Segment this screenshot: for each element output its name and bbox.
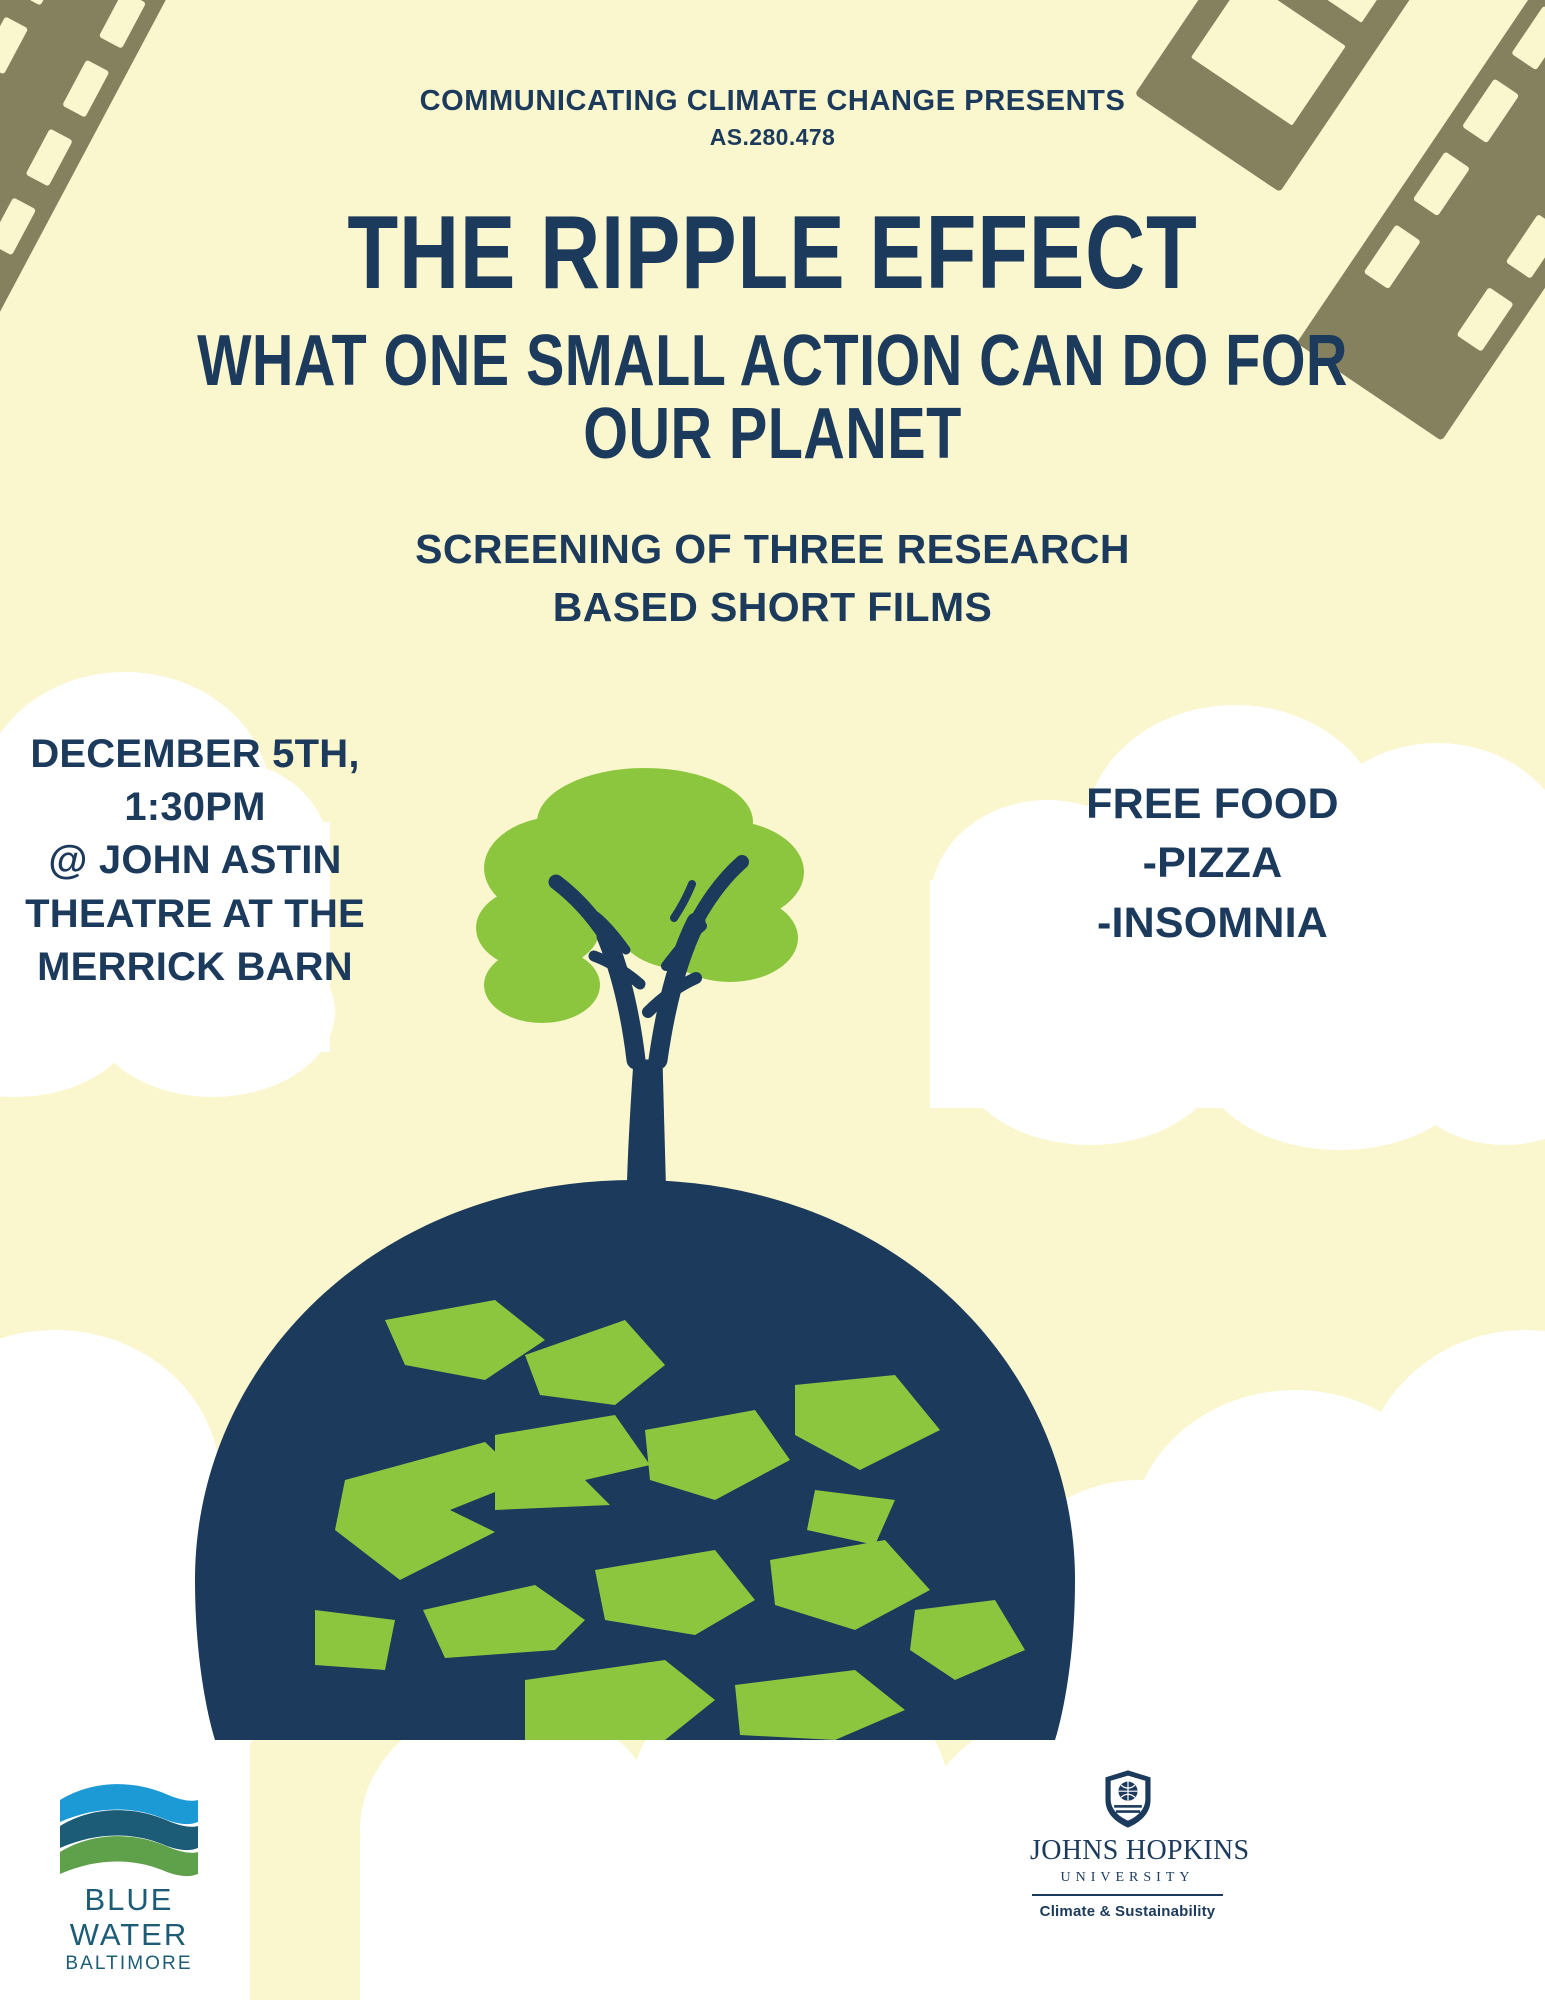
jhu-name: JOHNS HOPKINS (1030, 1835, 1225, 1867)
presents-line: COMMUNICATING CLIMATE CHANGE PRESENTS (0, 85, 1545, 118)
screening-description: SCREENING OF THREE RESEARCH BASED SHORT … (0, 520, 1545, 636)
event-date: DECEMBER 5TH, (0, 728, 390, 781)
blue-water-logo-line-2: WATER (38, 1918, 220, 1953)
event-venue-line1: @ JOHN ASTIN (0, 834, 390, 887)
screening-line-2: BASED SHORT FILMS (0, 578, 1545, 636)
jhu-shield-icon (1102, 1768, 1154, 1830)
tree-illustration (430, 760, 850, 1280)
free-food-heading: FREE FOOD (900, 775, 1525, 834)
page-subtitle: WHAT ONE SMALL ACTION CAN DO FOR OUR PLA… (155, 325, 1391, 472)
subtitle-line-1: WHAT ONE SMALL ACTION CAN DO FOR (155, 325, 1391, 398)
page-title: THE RIPPLE EFFECT (155, 204, 1391, 303)
subtitle-line-2: OUR PLANET (155, 398, 1391, 471)
blue-water-baltimore-logo: BLUE WATER BALTIMORE (38, 1778, 220, 1978)
jhu-university-label: UNIVERSITY (1030, 1870, 1225, 1886)
blue-water-logo-line-3: BALTIMORE (38, 1952, 220, 1977)
event-details-text: DECEMBER 5TH, 1:30PM @ JOHN ASTIN THEATR… (0, 728, 390, 994)
event-venue-line2: THEATRE AT THE (0, 888, 390, 941)
screening-line-1: SCREENING OF THREE RESEARCH (0, 520, 1545, 578)
free-food-text: FREE FOOD -PIZZA -INSOMNIA (900, 775, 1525, 953)
free-food-item-2: -INSOMNIA (900, 894, 1525, 953)
water-waves-icon (38, 1778, 220, 1878)
johns-hopkins-logo: JOHNS HOPKINS UNIVERSITY Climate & Susta… (1030, 1768, 1225, 1983)
course-code: AS.280.478 (0, 124, 1545, 151)
jhu-tagline: Climate & Sustainability (1030, 1903, 1225, 1920)
event-venue-line3: MERRICK BARN (0, 941, 390, 994)
free-food-item-1: -PIZZA (900, 834, 1525, 893)
jhu-divider (1032, 1894, 1223, 1896)
poster-canvas: COMMUNICATING CLIMATE CHANGE PRESENTS AS… (0, 0, 1545, 2000)
blue-water-logo-line-1: BLUE (38, 1883, 220, 1918)
event-time: 1:30PM (0, 781, 390, 834)
